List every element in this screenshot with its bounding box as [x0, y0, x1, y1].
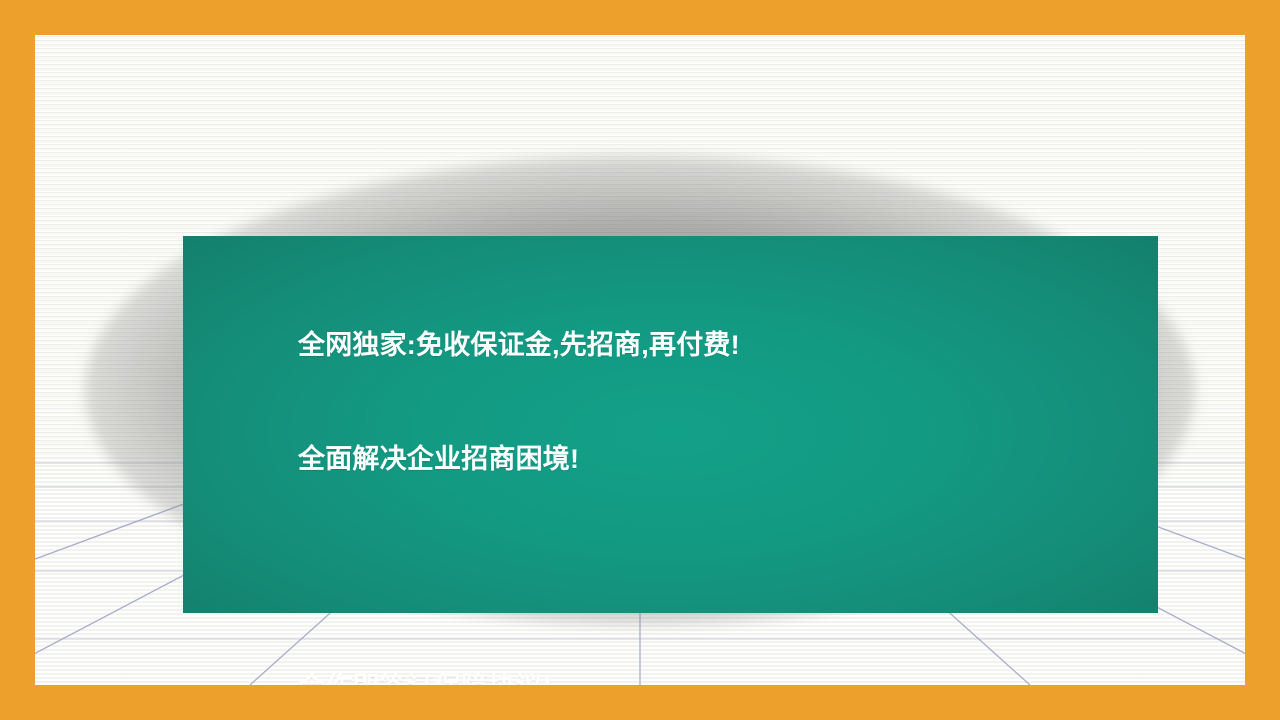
panel-text-block: 全网独家:免收保证金,先招商,再付费! 全面解决企业招商困境! 合作即签订保障协…: [298, 250, 1148, 685]
message-line-2: 全面解决企业招商困境!: [298, 440, 1148, 478]
message-line-4: 合作即签订保障协议!: [298, 668, 1148, 685]
message-line-1: 全网独家:免收保证金,先招商,再付费!: [298, 326, 1148, 364]
message-line-3: [298, 554, 1148, 592]
stage-background: 全网独家:免收保证金,先招商,再付费! 全面解决企业招商困境! 合作即签订保障协…: [35, 35, 1245, 685]
promo-slide: 全网独家:免收保证金,先招商,再付费! 全面解决企业招商困境! 合作即签订保障协…: [0, 0, 1280, 720]
green-message-panel: 全网独家:免收保证金,先招商,再付费! 全面解决企业招商困境! 合作即签订保障协…: [183, 236, 1158, 613]
